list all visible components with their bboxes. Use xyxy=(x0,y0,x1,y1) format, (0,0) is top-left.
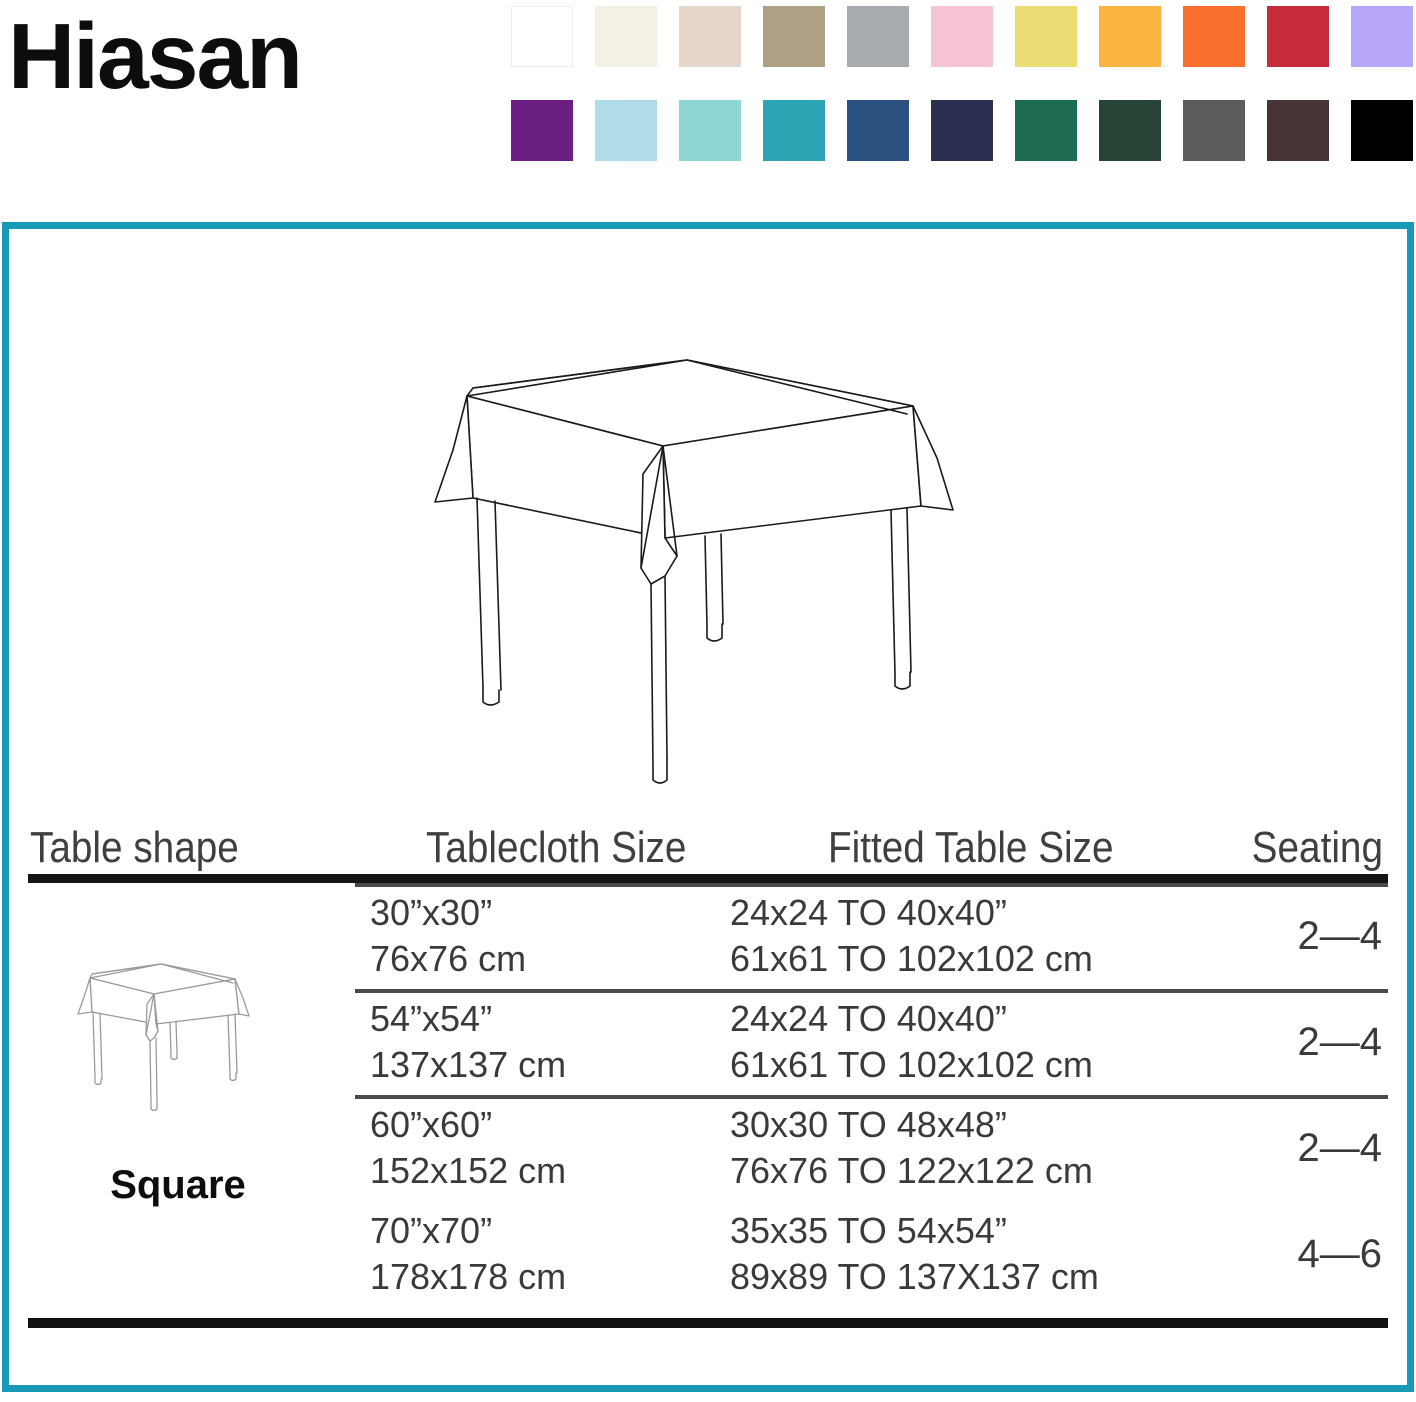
fitted-size-inches: 35x35 TO 54x54” xyxy=(730,1213,1250,1249)
brand-logo: Hiasan xyxy=(8,10,301,103)
cell-tablecloth-size: 30”x30” 76x76 cm xyxy=(370,883,730,989)
product-infographic: Hiasan xyxy=(0,0,1416,1402)
square-table-thumbnail-icon xyxy=(28,952,328,1157)
fitted-size-cm: 61x61 TO 102x102 cm xyxy=(730,1047,1250,1083)
cell-fitted-table-size: 24x24 TO 40x40” 61x61 TO 102x102 cm xyxy=(730,883,1250,989)
table-bottom-divider xyxy=(28,1318,1388,1328)
fitted-size-cm: 89x89 TO 137X137 cm xyxy=(730,1259,1250,1295)
color-swatch-orange[interactable] xyxy=(1183,6,1245,67)
color-swatch-dark-brown[interactable] xyxy=(1267,100,1329,161)
color-swatch-taupe[interactable] xyxy=(763,6,825,67)
cell-fitted-table-size: 35x35 TO 54x54” 89x89 TO 137X137 cm xyxy=(730,1201,1250,1307)
color-swatch-teal[interactable] xyxy=(763,100,825,161)
color-swatch-purple[interactable] xyxy=(511,100,573,161)
tablecloth-size-cm: 76x76 cm xyxy=(370,941,730,977)
seating-count: 2—4 xyxy=(1298,914,1383,959)
column-header-tablecloth-size: Tablecloth Size xyxy=(426,826,686,870)
fitted-size-inches: 30x30 TO 48x48” xyxy=(730,1107,1250,1143)
tablecloth-size-cm: 152x152 cm xyxy=(370,1153,730,1189)
color-swatch-black[interactable] xyxy=(1351,100,1413,161)
table-shape-cell: Square xyxy=(28,952,328,1208)
color-swatch-amber[interactable] xyxy=(1099,6,1161,67)
color-swatch-lavender[interactable] xyxy=(1351,6,1413,67)
header-divider xyxy=(28,874,1388,883)
cell-fitted-table-size: 24x24 TO 40x40” 61x61 TO 102x102 cm xyxy=(730,989,1250,1095)
color-swatch-yellow[interactable] xyxy=(1015,6,1077,67)
tablecloth-size-inches: 30”x30” xyxy=(370,895,730,931)
cell-seating: 2—4 xyxy=(1250,883,1388,989)
cell-tablecloth-size: 70”x70” 178x178 cm xyxy=(370,1201,730,1307)
fitted-size-inches: 24x24 TO 40x40” xyxy=(730,1001,1250,1037)
row-divider xyxy=(355,883,1388,887)
cell-seating: 2—4 xyxy=(1250,989,1388,1095)
row-divider xyxy=(355,989,1388,993)
seating-count: 4—6 xyxy=(1298,1232,1383,1277)
color-swatch-blue[interactable] xyxy=(847,100,909,161)
color-swatch-pink[interactable] xyxy=(931,6,993,67)
color-swatch-dark-gray[interactable] xyxy=(1183,100,1245,161)
cell-tablecloth-size: 54”x54” 137x137 cm xyxy=(370,989,730,1095)
table-row: 70”x70” 178x178 cm 35x35 TO 54x54” 89x89… xyxy=(28,1201,1388,1307)
color-swatch-grid xyxy=(511,6,1411,161)
column-header-seating: Seating xyxy=(1252,826,1383,870)
fitted-size-cm: 61x61 TO 102x102 cm xyxy=(730,941,1250,977)
color-swatch-light-blue[interactable] xyxy=(595,100,657,161)
cell-fitted-table-size: 30x30 TO 48x48” 76x76 TO 122x122 cm xyxy=(730,1095,1250,1201)
color-swatch-gray[interactable] xyxy=(847,6,909,67)
tablecloth-size-inches: 60”x60” xyxy=(370,1107,730,1143)
column-header-fitted-table-size: Fitted Table Size xyxy=(828,826,1114,870)
color-swatch-ivory[interactable] xyxy=(595,6,657,67)
fitted-size-inches: 24x24 TO 40x40” xyxy=(730,895,1250,931)
color-swatch-forest-green[interactable] xyxy=(1099,100,1161,161)
tablecloth-size-cm: 137x137 cm xyxy=(370,1047,730,1083)
fitted-size-cm: 76x76 TO 122x122 cm xyxy=(730,1153,1250,1189)
color-swatch-red[interactable] xyxy=(1267,6,1329,67)
cell-seating: 4—6 xyxy=(1250,1201,1388,1307)
color-swatch-row-2 xyxy=(511,100,1411,161)
row-divider xyxy=(355,1095,1388,1099)
square-table-illustration-icon xyxy=(415,338,985,793)
color-swatch-white[interactable] xyxy=(511,6,573,67)
cell-seating: 2—4 xyxy=(1250,1095,1388,1201)
tablecloth-size-cm: 178x178 cm xyxy=(370,1259,730,1295)
column-header-table-shape: Table shape xyxy=(30,826,239,870)
color-swatch-beige[interactable] xyxy=(679,6,741,67)
color-swatch-aqua[interactable] xyxy=(679,100,741,161)
seating-count: 2—4 xyxy=(1298,1020,1383,1065)
cell-tablecloth-size: 60”x60” 152x152 cm xyxy=(370,1095,730,1201)
color-swatch-navy[interactable] xyxy=(931,100,993,161)
tablecloth-size-inches: 54”x54” xyxy=(370,1001,730,1037)
color-swatch-emerald[interactable] xyxy=(1015,100,1077,161)
table-shape-label: Square xyxy=(28,1163,328,1208)
seating-count: 2—4 xyxy=(1298,1126,1383,1171)
table-header-row: Table shape Tablecloth Size Fitted Table… xyxy=(28,808,1388,870)
tablecloth-size-inches: 70”x70” xyxy=(370,1213,730,1249)
color-swatch-row-1 xyxy=(511,6,1411,67)
